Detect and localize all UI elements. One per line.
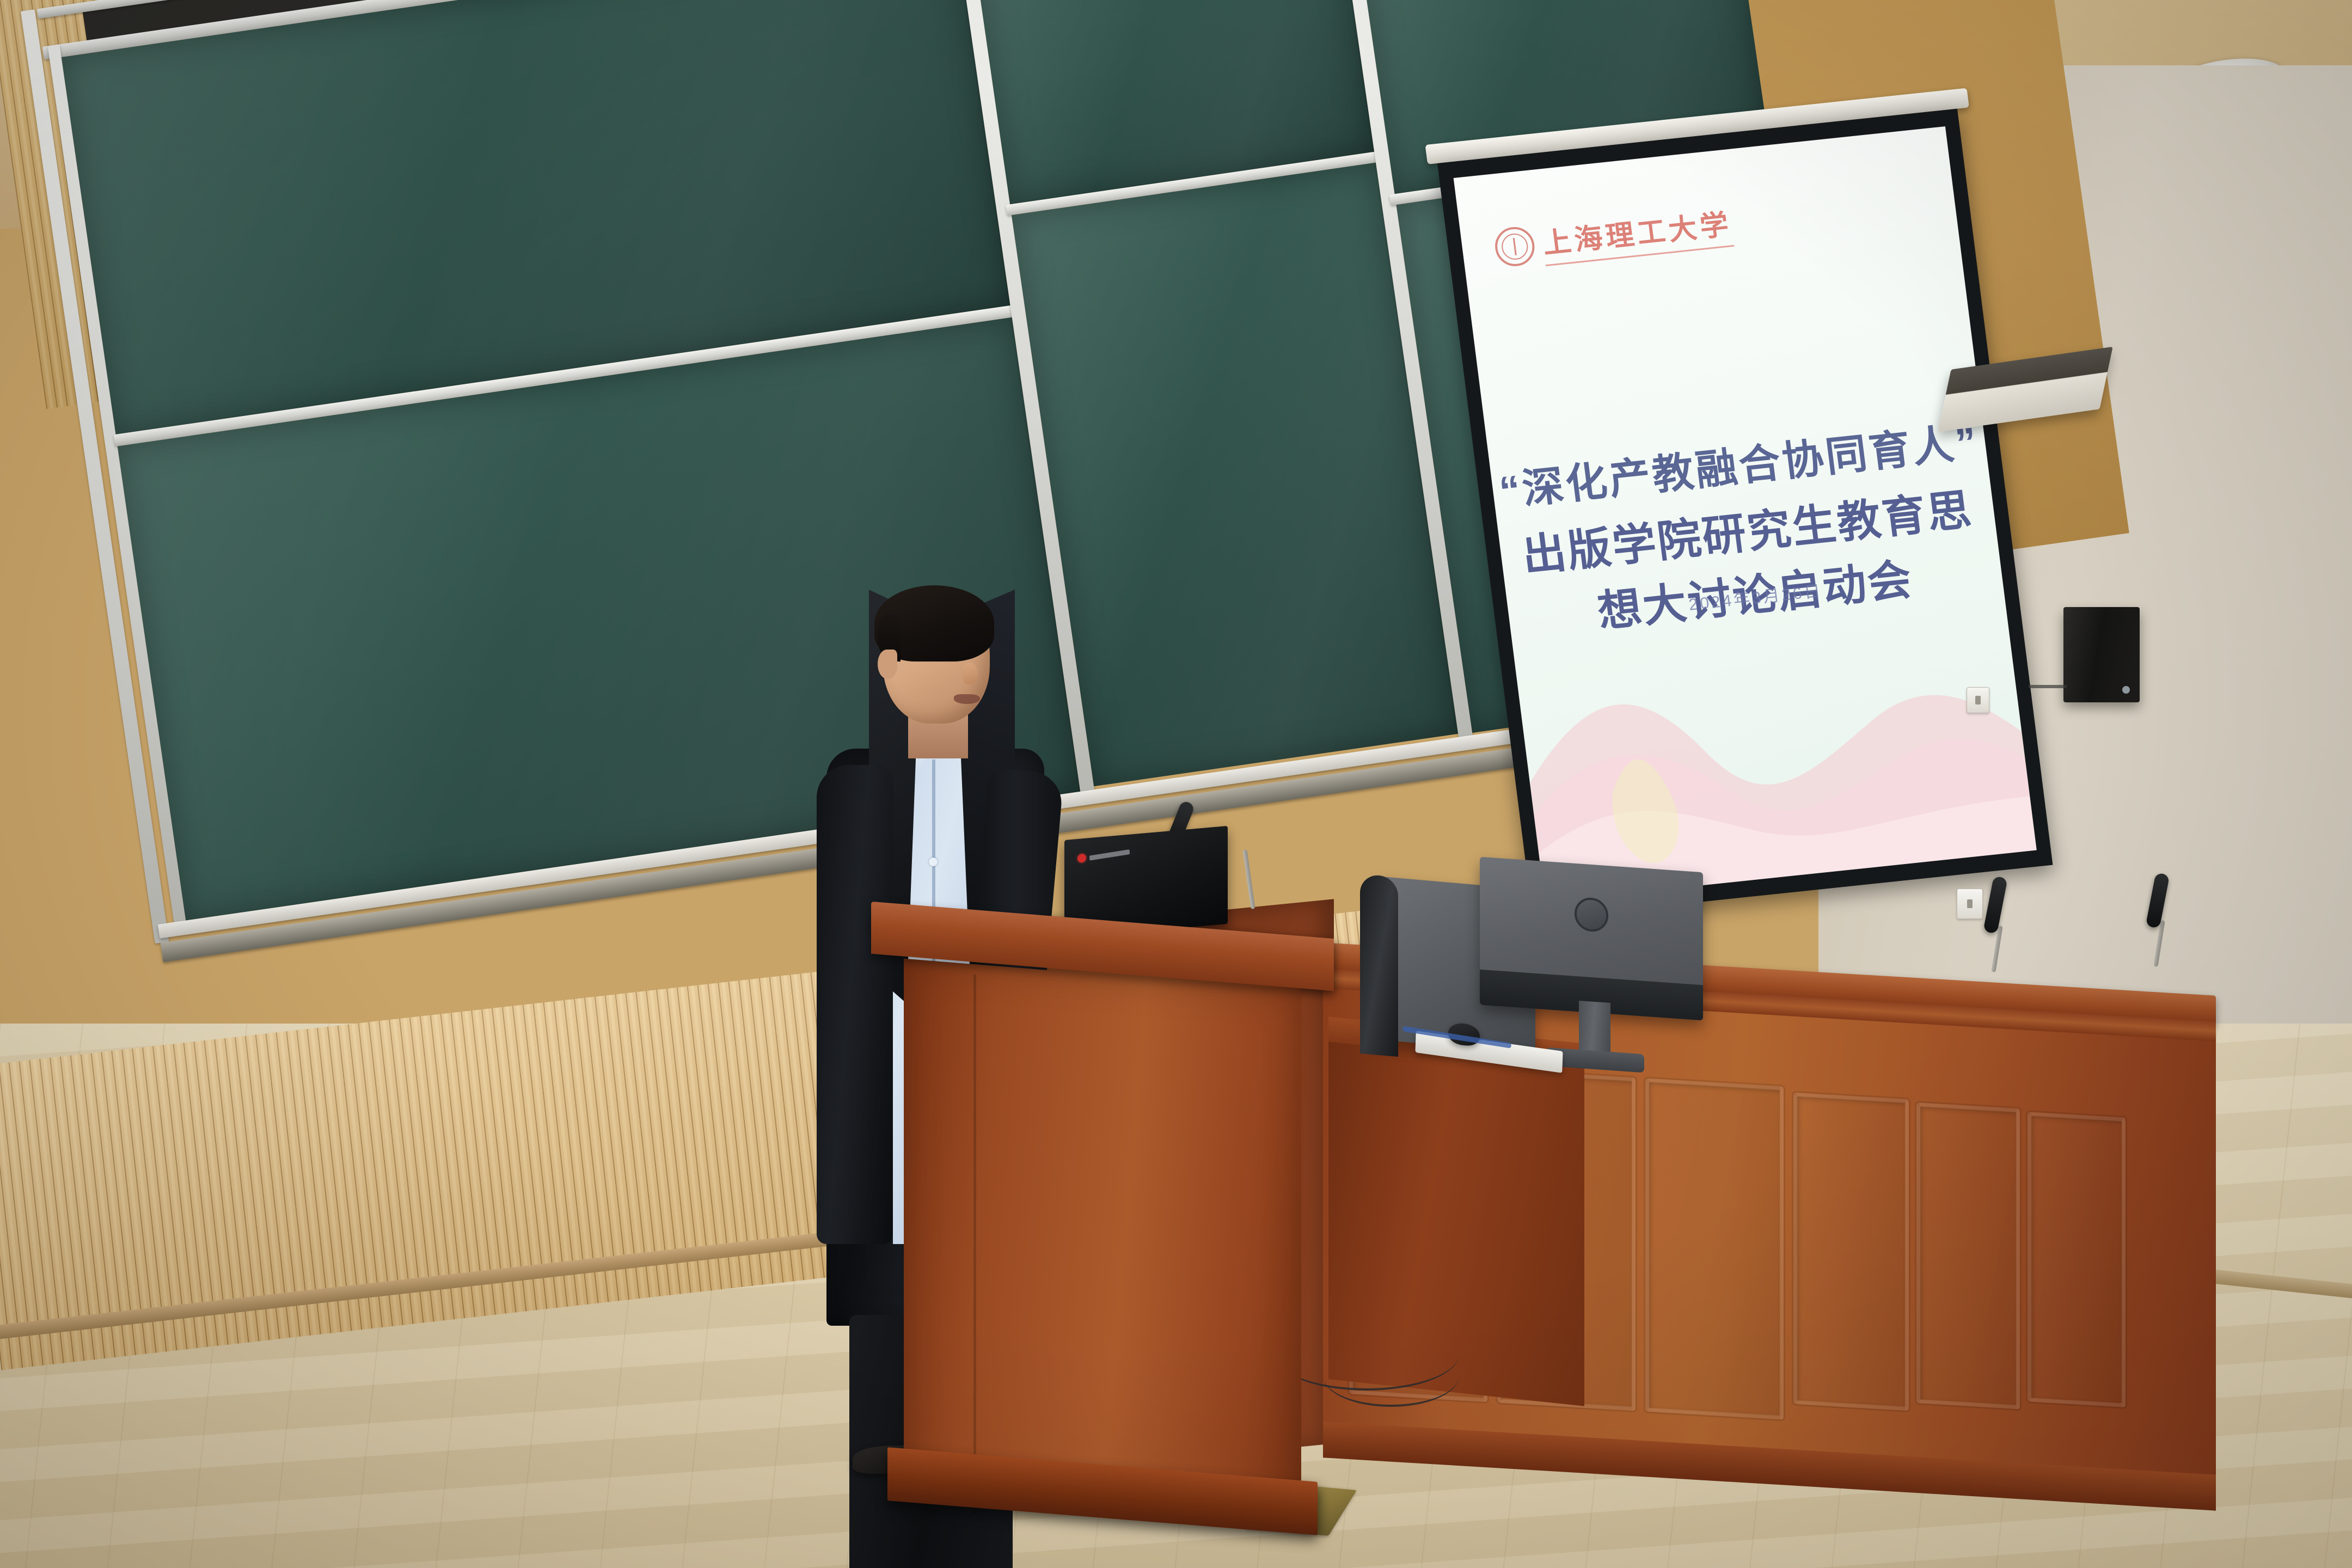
desk-panel: [1645, 1078, 1784, 1419]
desk-panel: [2028, 1112, 2126, 1407]
mouth: [954, 694, 980, 704]
desk-panel: [1793, 1093, 1909, 1411]
wall-outlet-icon: [1957, 889, 1983, 919]
shirt-button: [929, 857, 938, 866]
thinkpad-logo-dot-icon: [1077, 854, 1086, 863]
slide-logo-text: 上海理工大学: [1540, 201, 1735, 266]
floor-cable: [1323, 1345, 1459, 1407]
projection-screen-assembly: 上海理工大学 “深化产教融合协同育人” 出版学院研究生教育思想大讨论启动会 20…: [1437, 109, 2053, 920]
aio-hinge: [1360, 874, 1398, 1057]
lecture-hall-photo: 上海理工大学 “深化产教融合协同育人” 出版学院研究生教育思想大讨论启动会 20…: [0, 0, 2352, 1568]
desktop-monitor-rear: [1480, 857, 1703, 1021]
thinkpad-logo-bar-icon: [1089, 849, 1130, 861]
wall-outlet-icon: [1967, 687, 1989, 713]
jacket-sleeve-left: [817, 765, 893, 1244]
lectern-front-overlay: [904, 959, 1301, 1530]
lectern-front-seam: [973, 975, 976, 1514]
ear: [878, 650, 897, 679]
dell-logo-icon: [1575, 897, 1608, 933]
slide-wave-decoration: [1509, 569, 2036, 902]
wall-speaker-icon: [2063, 607, 2140, 702]
wall-speaker-bracket: [2029, 685, 2067, 688]
slide-logo: 上海理工大学: [1492, 201, 1734, 271]
desk-panel: [1916, 1102, 2020, 1409]
university-seal-icon: [1493, 225, 1537, 268]
nose: [963, 663, 978, 684]
projected-slide: 上海理工大学 “深化产教融合协同育人” 出版学院研究生教育思想大讨论启动会 20…: [1454, 126, 2037, 902]
